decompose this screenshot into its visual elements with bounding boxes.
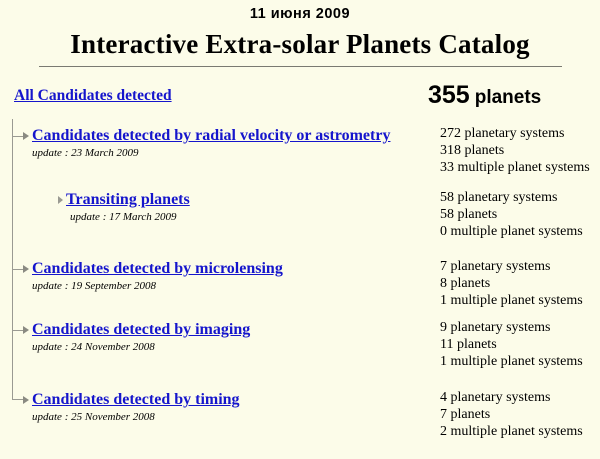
entry-update-date: update : 25 November 2008 (32, 411, 155, 423)
entry-link-radial-velocity[interactable]: Candidates detected by radial velocity o… (32, 127, 390, 145)
arrow-right-icon (23, 396, 29, 404)
stat-planets: 8 planets (440, 275, 583, 292)
entry-link-microlensing[interactable]: Candidates detected by microlensing (32, 260, 283, 278)
entry-link-timing[interactable]: Candidates detected by timing (32, 391, 240, 409)
summary-row: All Candidates detected 355planets (0, 81, 600, 117)
stat-planetary-systems: 7 planetary systems (440, 258, 583, 275)
stat-planetary-systems: 272 planetary systems (440, 125, 590, 142)
catalog-page: 11 июня 2009 Interactive Extra-solar Pla… (0, 0, 600, 450)
stat-planets: 7 planets (440, 406, 583, 423)
stat-multiple-planet-systems: 2 multiple planet systems (440, 423, 583, 440)
total-planets-count: 355 (428, 81, 470, 109)
all-candidates-detected-link[interactable]: All Candidates detected (14, 87, 172, 105)
stat-multiple-planet-systems: 0 multiple planet systems (440, 223, 583, 240)
total-planets: 355planets (428, 81, 541, 110)
stat-planetary-systems: 4 planetary systems (440, 389, 583, 406)
stat-planetary-systems: 58 planetary systems (440, 189, 583, 206)
entry-link-transiting-planets[interactable]: Transiting planets (66, 191, 190, 209)
arrow-right-icon (58, 196, 63, 204)
stat-multiple-planet-systems: 1 multiple planet systems (440, 292, 583, 309)
entry-link-imaging[interactable]: Candidates detected by imaging (32, 321, 250, 339)
stat-planets: 318 planets (440, 142, 590, 159)
entry-stats: 4 planetary systems 7 planets 2 multiple… (440, 389, 583, 440)
entry-update-date: update : 17 March 2009 (70, 211, 177, 223)
stat-planets: 11 planets (440, 336, 583, 353)
entry-stats: 58 planetary systems 58 planets 0 multip… (440, 189, 583, 240)
arrow-right-icon (23, 132, 29, 140)
stat-multiple-planet-systems: 1 multiple planet systems (440, 353, 583, 370)
arrow-right-icon (23, 265, 29, 273)
entry-stats: 7 planetary systems 8 planets 1 multiple… (440, 258, 583, 309)
stat-planets: 58 planets (440, 206, 583, 223)
page-title: Interactive Extra-solar Planets Catalog (0, 29, 600, 60)
total-planets-unit: planets (475, 87, 542, 108)
entry-stats: 9 planetary systems 11 planets 1 multipl… (440, 319, 583, 370)
entry-update-date: update : 24 November 2008 (32, 341, 155, 353)
title-divider (39, 66, 562, 67)
catalog-tree: Candidates detected by radial velocity o… (0, 119, 600, 459)
tree-trunk-line (12, 119, 13, 400)
entry-update-date: update : 23 March 2009 (32, 147, 139, 159)
arrow-right-icon (23, 326, 29, 334)
entry-stats: 272 planetary systems 318 planets 33 mul… (440, 125, 590, 176)
stat-planetary-systems: 9 planetary systems (440, 319, 583, 336)
entry-update-date: update : 19 September 2008 (32, 280, 156, 292)
stat-multiple-planet-systems: 33 multiple planet systems (440, 159, 590, 176)
page-date: 11 июня 2009 (0, 0, 600, 22)
